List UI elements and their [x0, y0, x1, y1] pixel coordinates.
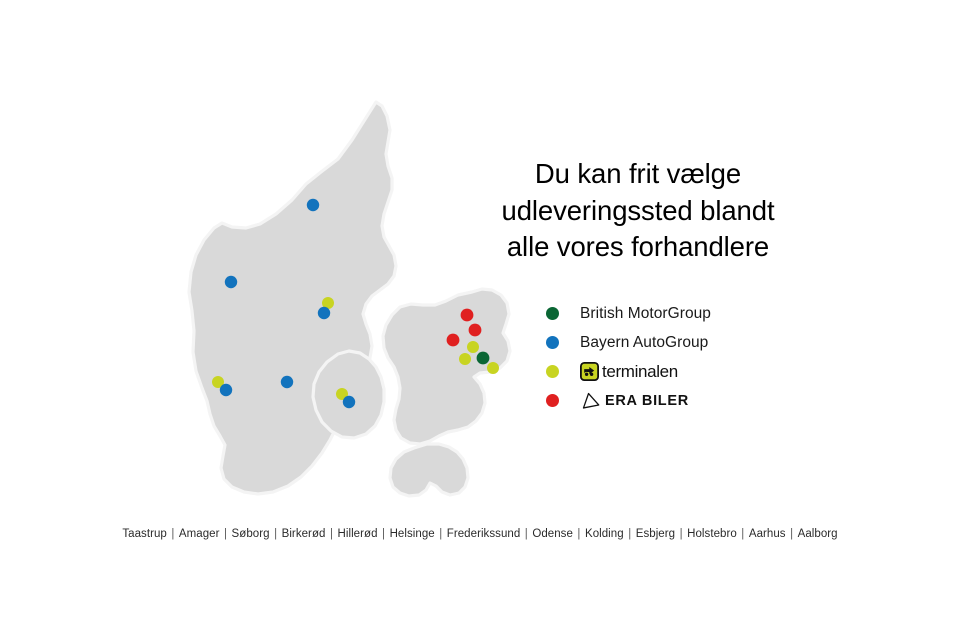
- city-name: Birkerød: [282, 528, 326, 540]
- city-name: Helsinge: [390, 528, 435, 540]
- city-name: Holstebro: [687, 528, 737, 540]
- dot-icon: [546, 394, 559, 407]
- city-name: Taastrup: [122, 528, 167, 540]
- city-name: Aalborg: [798, 528, 838, 540]
- legend-item-terminalen[interactable]: terminalen: [546, 357, 846, 386]
- city-separator: |: [786, 528, 798, 540]
- dot-icon: [546, 336, 559, 349]
- marker-frederikssund-erabiler[interactable]: [447, 334, 460, 347]
- legend-item-bayern-autogroup[interactable]: Bayern AutoGroup: [546, 328, 846, 357]
- legend-item-label: British MotorGroup: [580, 305, 711, 323]
- marker-aarhus-bayern[interactable]: [318, 307, 330, 319]
- marker-holstebro-bayern[interactable]: [225, 276, 237, 288]
- city-separator: |: [220, 528, 232, 540]
- terminalen-logomark: [580, 362, 599, 381]
- city-separator: |: [624, 528, 636, 540]
- legend-item-british-motorgroup[interactable]: British MotorGroup: [546, 299, 846, 328]
- era-biler-wordmark: ERA BILER: [605, 393, 689, 409]
- city-name: Amager: [179, 528, 220, 540]
- region-lolland-falster: [390, 444, 468, 496]
- headline-line-3: alle vores forhandlere: [452, 229, 824, 266]
- city-separator: |: [378, 528, 390, 540]
- marker-taastrup-terminalen[interactable]: [459, 353, 471, 365]
- city-separator: |: [325, 528, 337, 540]
- city-name: Esbjerg: [636, 528, 675, 540]
- city-name: Frederikssund: [447, 528, 521, 540]
- infographic-canvas: Du kan frit vælge udleveringssted blandt…: [0, 0, 960, 640]
- era-biler-logo: ERA BILER: [580, 392, 689, 409]
- city-separator: |: [270, 528, 282, 540]
- city-separator: |: [573, 528, 585, 540]
- legend: British MotorGroup Bayern AutoGroup term…: [546, 299, 846, 415]
- era-biler-logomark: [580, 392, 600, 409]
- city-separator: |: [520, 528, 532, 540]
- terminalen-logo: terminalen: [580, 362, 678, 382]
- city-name: Søborg: [232, 528, 270, 540]
- legend-item-label: Bayern AutoGroup: [580, 334, 708, 352]
- page-title: Du kan frit vælge udleveringssted blandt…: [452, 156, 824, 266]
- city-name: Aarhus: [749, 528, 786, 540]
- dot-icon: [546, 365, 559, 378]
- marker-soborg-britishmotor[interactable]: [477, 352, 490, 365]
- marker-kolding-bayern[interactable]: [281, 376, 293, 388]
- terminalen-wordmark: terminalen: [602, 362, 678, 382]
- city-name: Kolding: [585, 528, 624, 540]
- city-separator: |: [675, 528, 687, 540]
- marker-helsinge-erabiler[interactable]: [461, 309, 474, 322]
- city-name: Odense: [532, 528, 573, 540]
- headline-line-1: Du kan frit vælge: [452, 156, 824, 193]
- marker-hillerod-erabiler[interactable]: [469, 324, 482, 337]
- legend-item-era-biler[interactable]: ERA BILER: [546, 386, 846, 415]
- marker-birkerod-terminalen[interactable]: [467, 341, 479, 353]
- city-list: Taastrup|Amager|Søborg|Birkerød|Hillerød…: [0, 528, 960, 540]
- marker-esbjerg-bayern[interactable]: [220, 384, 232, 396]
- marker-amager-terminalen[interactable]: [487, 362, 499, 374]
- city-name: Hillerød: [338, 528, 378, 540]
- city-separator: |: [167, 528, 179, 540]
- marker-odense-bayern[interactable]: [343, 396, 355, 408]
- headline-line-2: udleveringssted blandt: [452, 193, 824, 230]
- marker-aalborg-bayern[interactable]: [307, 199, 319, 211]
- city-separator: |: [435, 528, 447, 540]
- region-funen: [313, 351, 384, 438]
- dot-icon: [546, 307, 559, 320]
- city-separator: |: [737, 528, 749, 540]
